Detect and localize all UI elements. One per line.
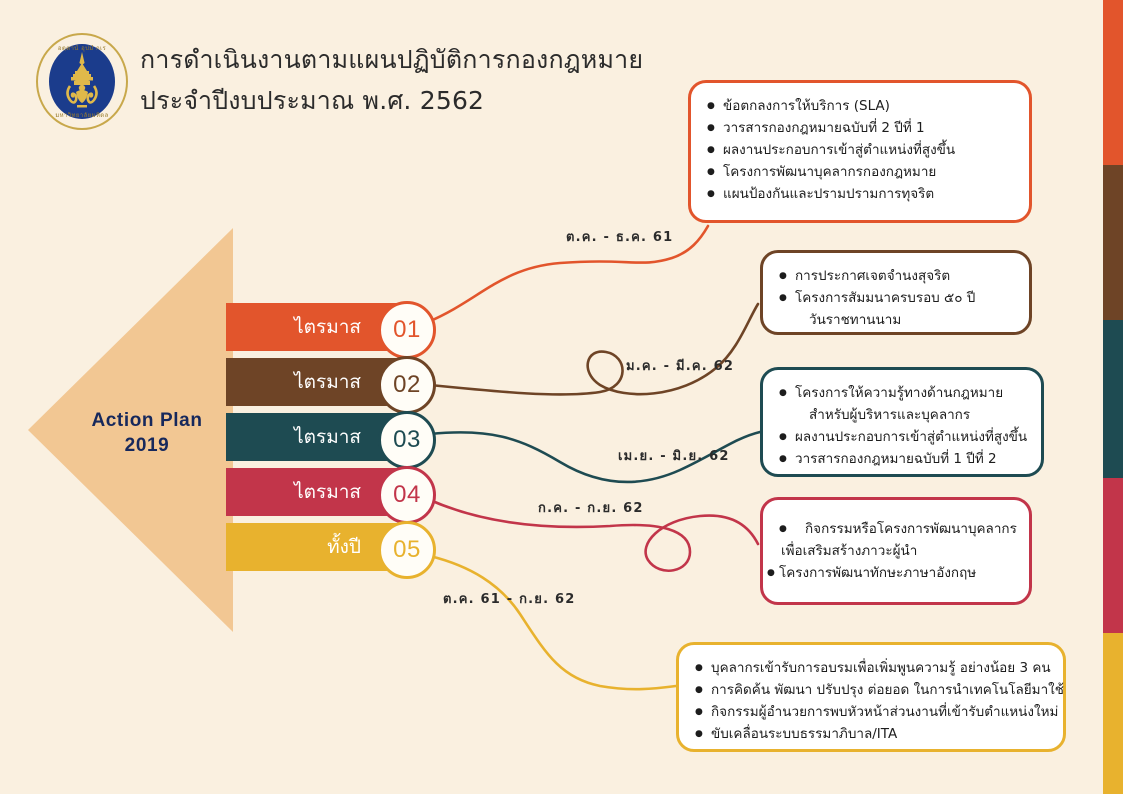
- connector-q2: [430, 304, 758, 394]
- date-label-04: ก.ค. - ก.ย. 62: [538, 497, 644, 518]
- callout-box-02[interactable]: การประกาศเจตจำนงสุจริต โครงการสัมมนาครบร…: [760, 250, 1032, 335]
- callout-list-01: ข้อตกลงการให้บริการ (SLA) วารสารกองกฎหมา…: [707, 95, 1015, 205]
- callout-item: โครงการพัฒนาทักษะภาษาอังกฤษ: [767, 562, 1015, 584]
- callout-item-continuation: วันราชทานนาม: [779, 309, 1015, 331]
- arrow-label: Action Plan 2019: [62, 408, 232, 458]
- callout-item: การคิดค้น พัฒนา ปรับปรุง ต่อยอด ในการนำเ…: [695, 679, 1049, 701]
- logo-text-bottom: มหาวิทยาลัยมหิดล: [36, 110, 128, 120]
- university-logo: อตฺตานํ อุปมํ กเร มหาวิทยาลัยมหิดล: [36, 33, 128, 130]
- edge-color-strip: [1103, 0, 1123, 794]
- title-line-1: การดำเนินงานตามแผนปฏิบัติการกองกฎหมาย: [140, 40, 700, 80]
- callout-item: โครงการพัฒนาบุคลากรกองกฎหมาย: [707, 161, 1015, 183]
- callout-item: กิจกรรมหรือโครงการพัฒนาบุคลากร: [779, 518, 1015, 540]
- quarter-bar-02[interactable]: ไตรมาส: [226, 358, 401, 406]
- callout-list-02: การประกาศเจตจำนงสุจริต โครงการสัมมนาครบร…: [779, 265, 1015, 331]
- callout-box-04[interactable]: กิจกรรมหรือโครงการพัฒนาบุคลากร เพื่อเสริ…: [760, 497, 1032, 605]
- arrow-label-line-1: Action Plan: [62, 408, 232, 433]
- callout-box-01[interactable]: ข้อตกลงการให้บริการ (SLA) วารสารกองกฎหมา…: [688, 80, 1032, 223]
- edge-segment-01: [1103, 0, 1123, 165]
- date-label-05: ต.ค. 61 - ก.ย. 62: [443, 588, 575, 609]
- callout-item: ผลงานประกอบการเข้าสู่ตำแหน่งที่สูงขึ้น: [707, 139, 1015, 161]
- callout-box-03[interactable]: โครงการให้ความรู้ทางด้านกฎหมาย สำหรับผู้…: [760, 367, 1044, 477]
- date-label-03: เม.ย. - มิ.ย. 62: [618, 445, 730, 466]
- quarter-bar-03[interactable]: ไตรมาส: [226, 413, 401, 461]
- quarter-number-03[interactable]: 03: [378, 411, 436, 469]
- callout-item: โครงการให้ความรู้ทางด้านกฎหมาย: [779, 382, 1027, 404]
- quarter-bar-05[interactable]: ทั้งปี: [226, 523, 401, 571]
- date-label-02: ม.ค. - มี.ค. 62: [626, 355, 734, 376]
- arrow-label-line-2: 2019: [62, 433, 232, 458]
- page-title: การดำเนินงานตามแผนปฏิบัติการกองกฎหมาย ปร…: [140, 40, 700, 122]
- callout-item: ผลงานประกอบการเข้าสู่ตำแหน่งที่สูงขึ้น: [779, 426, 1027, 448]
- quarter-number-02[interactable]: 02: [378, 356, 436, 414]
- quarter-number-05[interactable]: 05: [378, 521, 436, 579]
- callout-item: โครงการสัมมนาครบรอบ ๕๐ ปี: [779, 287, 1015, 309]
- quarter-number-04[interactable]: 04: [378, 466, 436, 524]
- quarter-bar-01[interactable]: ไตรมาส: [226, 303, 401, 351]
- callout-list-05: บุคลากรเข้ารับการอบรมเพื่อเพิ่มพูนความรู…: [695, 657, 1049, 745]
- title-line-2: ประจำปีงบประมาณ พ.ศ. 2562: [140, 80, 700, 122]
- date-label-01: ต.ค. - ธ.ค. 61: [566, 226, 673, 247]
- callout-item: วารสารกองกฎหมายฉบับที่ 2 ปีที่ 1: [707, 117, 1015, 139]
- callout-item: การประกาศเจตจำนงสุจริต: [779, 265, 1015, 287]
- quarter-number-01[interactable]: 01: [378, 301, 436, 359]
- callout-list-04: กิจกรรมหรือโครงการพัฒนาบุคลากร เพื่อเสริ…: [779, 518, 1015, 584]
- edge-segment-03: [1103, 320, 1123, 478]
- callout-box-05[interactable]: บุคลากรเข้ารับการอบรมเพื่อเพิ่มพูนความรู…: [676, 642, 1066, 752]
- callout-item-continuation: เพื่อเสริมสร้างภาวะผู้นำ: [779, 540, 1015, 562]
- quarter-bar-04[interactable]: ไตรมาส: [226, 468, 401, 516]
- callout-list-03: โครงการให้ความรู้ทางด้านกฎหมาย สำหรับผู้…: [779, 382, 1027, 470]
- edge-segment-02: [1103, 165, 1123, 320]
- edge-segment-05: [1103, 633, 1123, 794]
- callout-item: ข้อตกลงการให้บริการ (SLA): [707, 95, 1015, 117]
- connector-q5: [430, 556, 676, 689]
- logo-text-top: อตฺตานํ อุปมํ กเร: [36, 43, 128, 53]
- callout-item: บุคลากรเข้ารับการอบรมเพื่อเพิ่มพูนความรู…: [695, 657, 1049, 679]
- callout-item: กิจกรรมผู้อำนวยการพบหัวหน้าส่วนงานที่เข้…: [695, 701, 1049, 723]
- logo-emblem-icon: [49, 44, 115, 119]
- infographic-canvas: อตฺตานํ อุปมํ กเร มหาวิทยาลัยมหิดล การดำ…: [0, 0, 1123, 794]
- callout-item: แผนป้องกันและปรามปรามการทุจริต: [707, 183, 1015, 205]
- callout-item: วารสารกองกฎหมายฉบับที่ 1 ปีที่ 2: [779, 448, 1027, 470]
- edge-segment-04: [1103, 478, 1123, 633]
- callout-item-continuation: สำหรับผู้บริหารและบุคลากร: [779, 404, 1027, 426]
- callout-item: ขับเคลื่อนระบบธรรมาภิบาล/ITA: [695, 723, 1049, 745]
